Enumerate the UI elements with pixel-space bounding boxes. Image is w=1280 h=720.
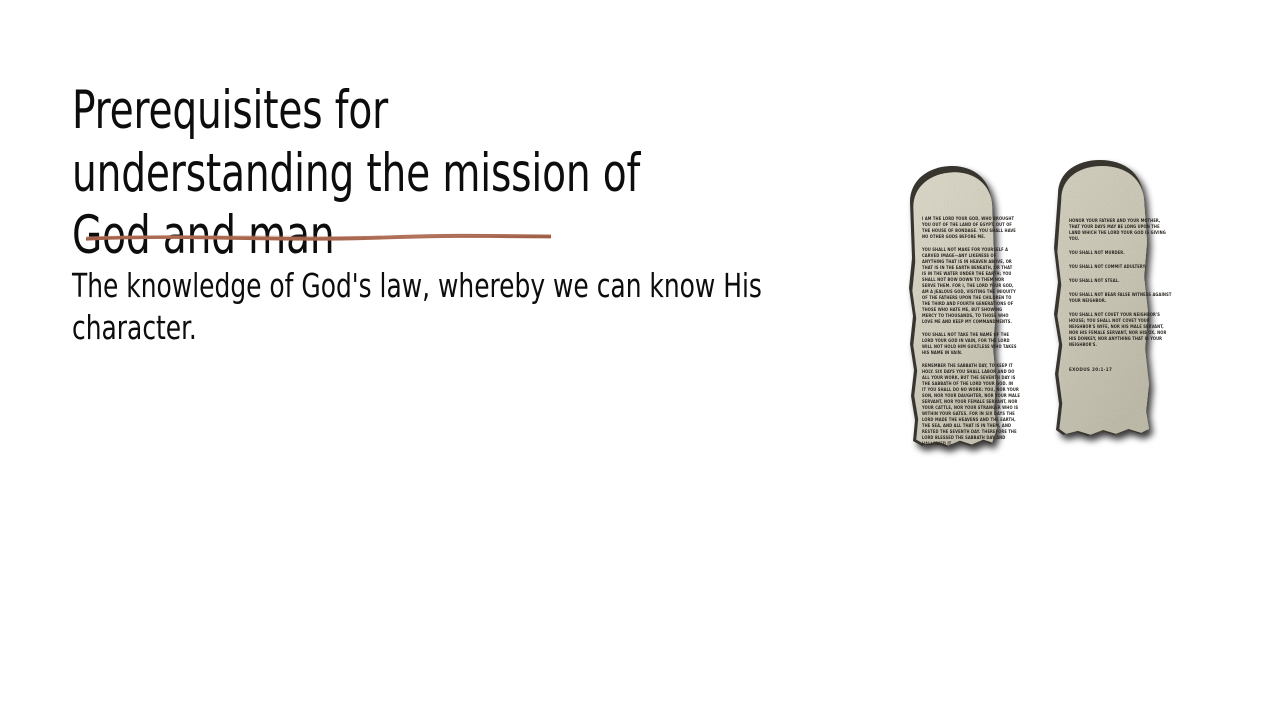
slide-canvas: Prerequisites for understanding the miss…	[0, 0, 1280, 720]
slide-text-block: Prerequisites for understanding the miss…	[72, 80, 812, 268]
ten-commandments-tablets-image: I AM THE LORD YOUR GOD, WHO BROUGHT YOU …	[862, 158, 1224, 478]
right-stone-tablet	[1054, 160, 1149, 436]
brush-stroke-divider	[84, 228, 554, 246]
slide-subtitle: The knowledge of God's law, whereby we c…	[72, 265, 828, 349]
left-stone-tablet	[909, 166, 997, 447]
